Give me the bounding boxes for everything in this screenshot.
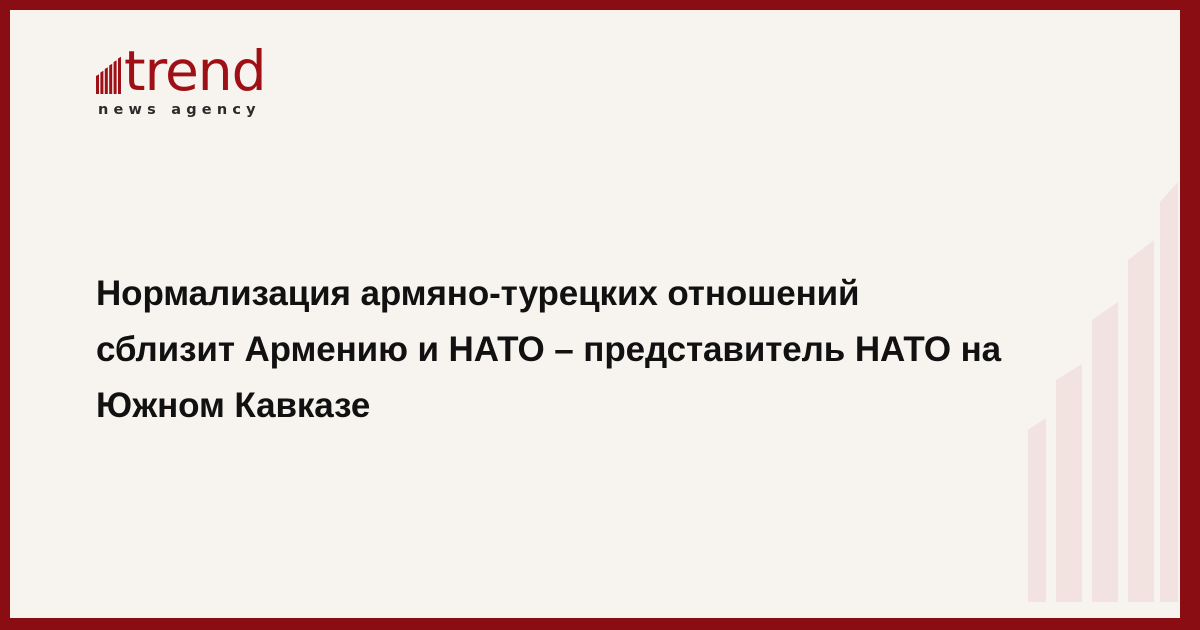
- headline-line-1: Нормализация армяно-турецких отношений: [96, 266, 1106, 322]
- border-band-right: [1180, 0, 1200, 630]
- logo-subtitle: news agency: [98, 102, 266, 118]
- news-share-card: trend news agency Нормализация армяно-ту…: [0, 0, 1200, 630]
- headline-line-3: Южном Кавказе: [96, 378, 1106, 434]
- headline-line-2: сблизит Армению и НАТО – представитель Н…: [96, 322, 1106, 378]
- site-logo[interactable]: trend news agency: [96, 42, 266, 118]
- border-band-left: [0, 0, 10, 630]
- headline: Нормализация армяно-турецких отношений с…: [96, 266, 1106, 434]
- logo-wordmark: trend: [124, 46, 266, 96]
- ascending-bars-icon: [96, 46, 122, 94]
- border-band-bottom: [0, 618, 1200, 630]
- border-band-top: [0, 0, 1200, 10]
